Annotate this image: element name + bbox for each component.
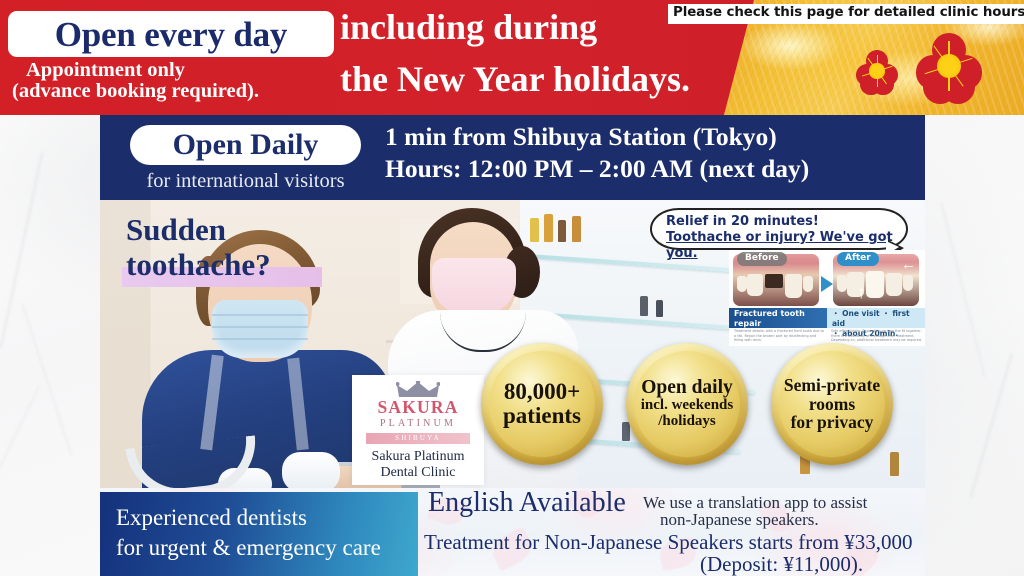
assistant-face-mask xyxy=(432,258,516,314)
bottle xyxy=(656,300,663,317)
marble-vein xyxy=(21,304,72,457)
experienced-dentists-box: Experienced dentists for urgent & emerge… xyxy=(100,492,418,576)
patients-badge-line1: 80,000+ xyxy=(503,380,581,404)
before-tag: Before xyxy=(737,252,787,266)
plum-blossom-icon xyxy=(856,50,898,92)
badge-inner: Semi-private rooms for privacy xyxy=(779,351,885,457)
international-visitors-label: for international visitors xyxy=(128,170,363,193)
including-line1: including during xyxy=(340,9,597,47)
badge-inner: 80,000+ patients xyxy=(489,351,595,457)
poster-canvas: Open every day Appointment only (advance… xyxy=(0,0,1024,576)
clinic-brand-sub: PLATINUM xyxy=(352,419,484,429)
treatment-deposit-line: (Deposit: ¥11,000). xyxy=(700,553,863,576)
bottle xyxy=(890,452,899,476)
including-line2: the New Year holidays. xyxy=(340,61,690,99)
clinic-brand: SAKURA xyxy=(352,399,484,417)
experienced-line2: for urgent & emergency care xyxy=(116,534,381,562)
speech-bubble-line1: Relief in 20 minutes! xyxy=(666,214,819,230)
private-room-badge-line1: Semi-private xyxy=(784,376,880,395)
before-caption-text: Fractured tooth repair xyxy=(734,309,826,329)
badge-inner: Open daily incl. weekends /holidays xyxy=(634,351,740,457)
patients-badge-line2: patients xyxy=(503,404,581,428)
private-room-badge-line2: rooms xyxy=(784,395,880,414)
gloved-hand xyxy=(282,452,340,488)
dentist-face-mask xyxy=(212,300,308,358)
speech-bubble: Relief in 20 minutes! Toothache or injur… xyxy=(650,208,908,250)
before-after-card: Before After ↑ ← Fractured tooth repair … xyxy=(729,250,925,346)
open-daily-text: Open Daily xyxy=(173,130,319,160)
english-available-heading: English Available xyxy=(428,488,626,519)
open-daily-badge: Open daily incl. weekends /holidays xyxy=(626,343,748,465)
experienced-line1: Experienced dentists xyxy=(116,504,307,532)
open-every-day-text: Open every day xyxy=(55,17,287,52)
marble-vein xyxy=(969,352,1013,497)
bottle xyxy=(572,216,581,242)
after-tag: After xyxy=(837,252,879,266)
marble-vein xyxy=(940,202,985,377)
clinic-sign: SAKURA PLATINUM SHIBUYA Sakura Platinum … xyxy=(352,375,484,485)
before-fineprint: Treatment details: with a fractured fron… xyxy=(734,329,824,343)
patients-badge: 80,000+ patients xyxy=(481,343,603,465)
appointment-note-line2: (advance booking required). xyxy=(12,81,259,103)
toothache-heading-wrap: toothache? xyxy=(126,247,271,284)
private-room-badge: Semi-private rooms for privacy xyxy=(771,343,893,465)
plum-blossom-icon xyxy=(916,33,982,99)
navy-header-band: Open Daily for international visitors 1 … xyxy=(100,115,925,200)
up-arrow-icon: ↑ xyxy=(857,284,866,301)
marble-vein xyxy=(0,386,40,495)
hours-line: Hours: 12:00 PM – 2:00 AM (next day) xyxy=(385,155,809,184)
appointment-note-line1: Appointment only xyxy=(26,60,185,82)
open-daily-badge-line1: Open daily xyxy=(641,378,734,399)
bottle xyxy=(530,218,539,242)
bottle xyxy=(640,296,648,316)
marble-vein xyxy=(0,152,44,348)
bottle xyxy=(544,214,553,242)
open-every-day-badge: Open every day xyxy=(8,11,334,57)
before-after-arrow-icon xyxy=(821,276,833,292)
clinic-name-line2: Dental Clinic xyxy=(352,465,484,481)
toothache-heading: toothache? xyxy=(126,247,271,284)
clinic-name-line1: Sakura Platinum xyxy=(352,449,484,465)
open-daily-badge-line3: /holidays xyxy=(641,414,734,430)
private-room-badge-line3: for privacy xyxy=(784,413,880,432)
bottle xyxy=(558,220,566,242)
clinic-hours-note: Please check this page for detailed clin… xyxy=(668,4,1024,24)
open-daily-badge-line2: incl. weekends xyxy=(641,398,734,414)
treatment-price-line1: Treatment for Non-Japanese Speakers star… xyxy=(424,531,913,555)
translation-note-line2: non-Japanese speakers. xyxy=(660,511,819,530)
sudden-heading: Sudden xyxy=(126,212,226,249)
open-daily-pill: Open Daily xyxy=(130,125,361,165)
after-fineprint: Side effects/risks: Depending on how the… xyxy=(831,329,923,343)
clinic-location: SHIBUYA xyxy=(352,433,484,444)
left-arrow-icon: ← xyxy=(901,258,916,273)
top-red-banner: Open every day Appointment only (advance… xyxy=(0,0,1024,115)
location-line: 1 min from Shibuya Station (Tokyo) xyxy=(385,123,777,152)
